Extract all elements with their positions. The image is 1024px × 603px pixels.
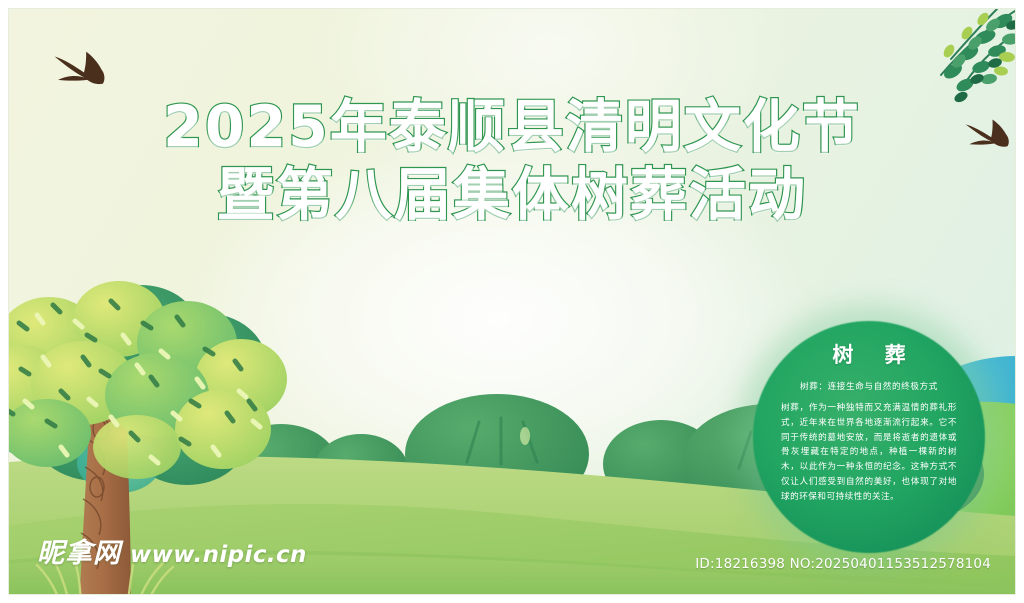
poster-title-line-1: 2025年泰顺县清明文化节 bbox=[9, 97, 1015, 159]
info-circle-content: 树 葬 树葬：连接生命与自然的终极方式 树葬，作为一种独特而又充满温情的葬礼形式… bbox=[751, 339, 987, 504]
swallow-bird-icon bbox=[49, 46, 110, 98]
info-heading: 树 葬 bbox=[751, 339, 987, 369]
info-circle-panel: 树 葬 树葬：连接生命与自然的终极方式 树葬，作为一种独特而又充满温情的葬礼形式… bbox=[753, 321, 985, 553]
poster-title-block: 2025年泰顺县清明文化节 暨第八届集体树葬活动 bbox=[9, 97, 1015, 226]
poster-canvas: 2025年泰顺县清明文化节 暨第八届集体树葬活动 树 葬 树葬：连接生命与自然的… bbox=[0, 0, 1024, 603]
info-body-text: 树葬，作为一种独特而又充满温情的葬礼形式，近年来在世界各地逐渐流行起来。它不同于… bbox=[781, 401, 957, 504]
swallow-bird-icon-secondary bbox=[962, 116, 1012, 158]
canopy-front bbox=[8, 281, 287, 479]
poster-title-line-2: 暨第八届集体树葬活动 bbox=[9, 165, 1015, 227]
info-subtitle: 树葬：连接生命与自然的终极方式 bbox=[751, 380, 987, 392]
poster-frame: 2025年泰顺县清明文化节 暨第八届集体树葬活动 树 葬 树葬：连接生命与自然的… bbox=[8, 8, 1016, 595]
image-id-badge: ID:18216398 NO:20250401153512578104 bbox=[695, 556, 991, 572]
tree-illustration bbox=[8, 261, 291, 595]
